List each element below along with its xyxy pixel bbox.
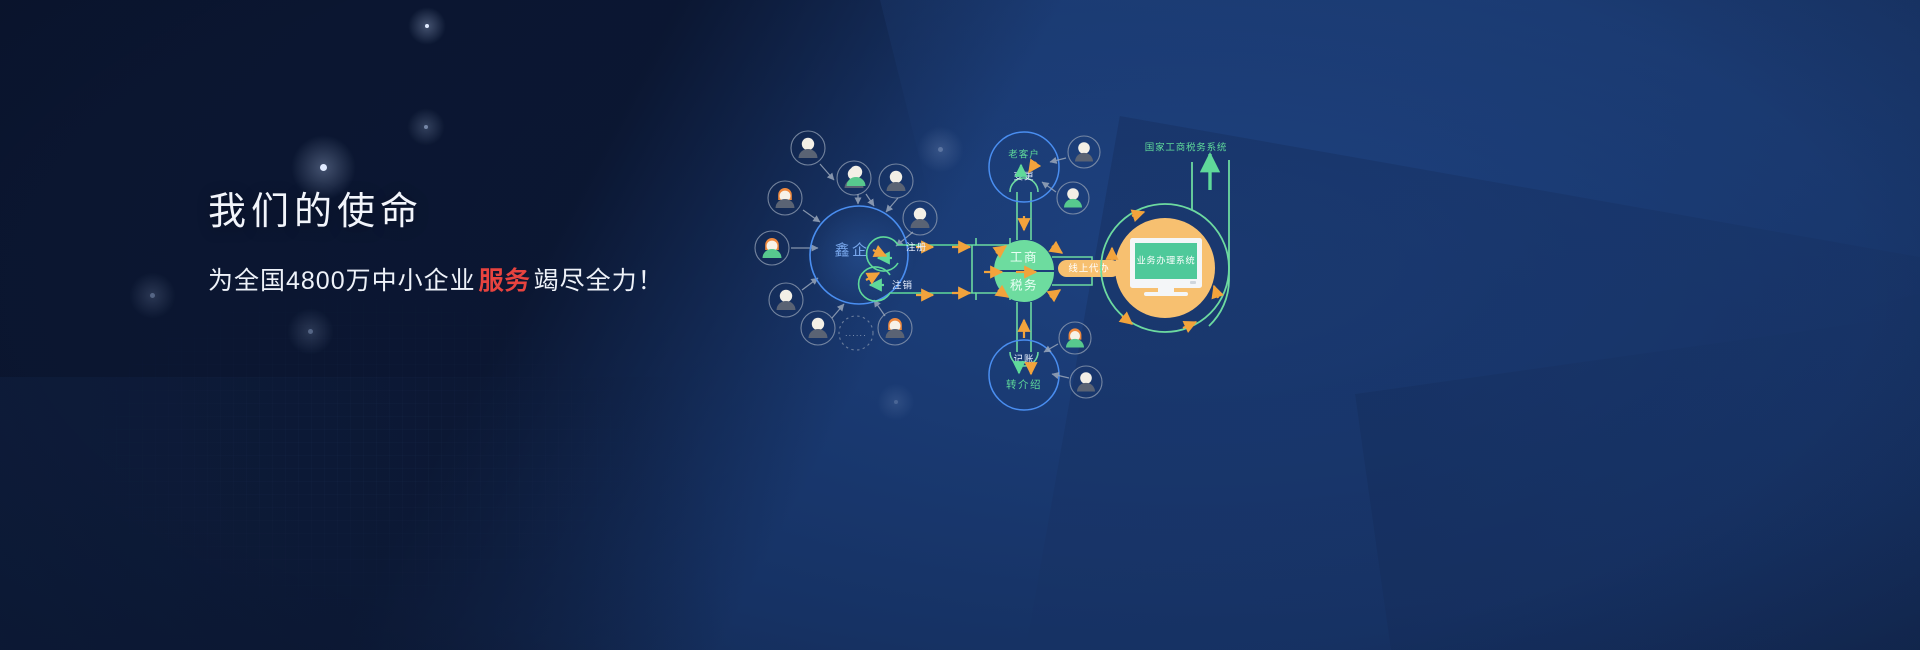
subtitle-suffix: 竭尽全力！ bbox=[534, 267, 664, 295]
hero-banner: 我们的使命 为全国4800万中小企业服务竭尽全力！ bbox=[0, 0, 1920, 650]
decor-dot-1 bbox=[425, 24, 429, 28]
avatar bbox=[768, 181, 802, 215]
client-hub-label: 鑫企 bbox=[834, 241, 869, 259]
change-label: 变更 bbox=[1013, 171, 1034, 183]
government-system: 国家工商税务系统 业务办理系统 bbox=[1101, 142, 1229, 332]
decor-dot-4 bbox=[150, 293, 155, 298]
decor-dot-2 bbox=[424, 125, 428, 129]
monitor-label: 业务办理系统 bbox=[1137, 254, 1196, 265]
avatar bbox=[878, 311, 912, 345]
old-customer-label: 老客户 bbox=[1008, 149, 1040, 161]
decor-dot-3 bbox=[320, 164, 327, 171]
avatar bbox=[1068, 136, 1100, 168]
avatar bbox=[879, 164, 913, 198]
more-clients-label: ...... bbox=[845, 329, 867, 338]
core-bottom-label: 税务 bbox=[1010, 277, 1038, 292]
flow-register-label: 注册 bbox=[906, 242, 927, 254]
online-agency-badge: 线上代办 bbox=[1058, 260, 1120, 277]
monitor-icon: 业务办理系统 bbox=[1130, 238, 1202, 296]
subtitle-prefix: 为全国4800万中小企业 bbox=[208, 267, 476, 295]
decor-dot-5 bbox=[308, 329, 313, 334]
more-clients-node: ...... bbox=[839, 316, 873, 350]
avatar bbox=[801, 311, 835, 345]
system-title: 国家工商税务系统 bbox=[1145, 142, 1227, 154]
page-title: 我们的使命 bbox=[208, 180, 664, 235]
hero-copy: 我们的使命 为全国4800万中小企业服务竭尽全力！ bbox=[208, 180, 664, 297]
old-customer-node: 老客户 变更 bbox=[989, 132, 1059, 202]
avatar bbox=[1070, 366, 1102, 398]
avatar bbox=[791, 131, 825, 165]
subtitle-highlight: 服务 bbox=[476, 267, 534, 295]
service-flow-diagram: ...... 鑫企 bbox=[740, 120, 1280, 420]
online-agency-label: 线上代办 bbox=[1068, 263, 1109, 275]
avatar bbox=[1057, 182, 1089, 214]
avatar bbox=[1059, 322, 1091, 354]
avatar bbox=[769, 283, 803, 317]
flow-cancel-label: 注销 bbox=[892, 280, 913, 292]
hero-subtitle: 为全国4800万中小企业服务竭尽全力！ bbox=[208, 261, 664, 297]
referral-label: 转介绍 bbox=[1006, 378, 1042, 391]
core-top-label: 工商 bbox=[1010, 249, 1038, 264]
avatar bbox=[755, 231, 789, 265]
referral-node: 记账 转介绍 bbox=[989, 340, 1059, 410]
